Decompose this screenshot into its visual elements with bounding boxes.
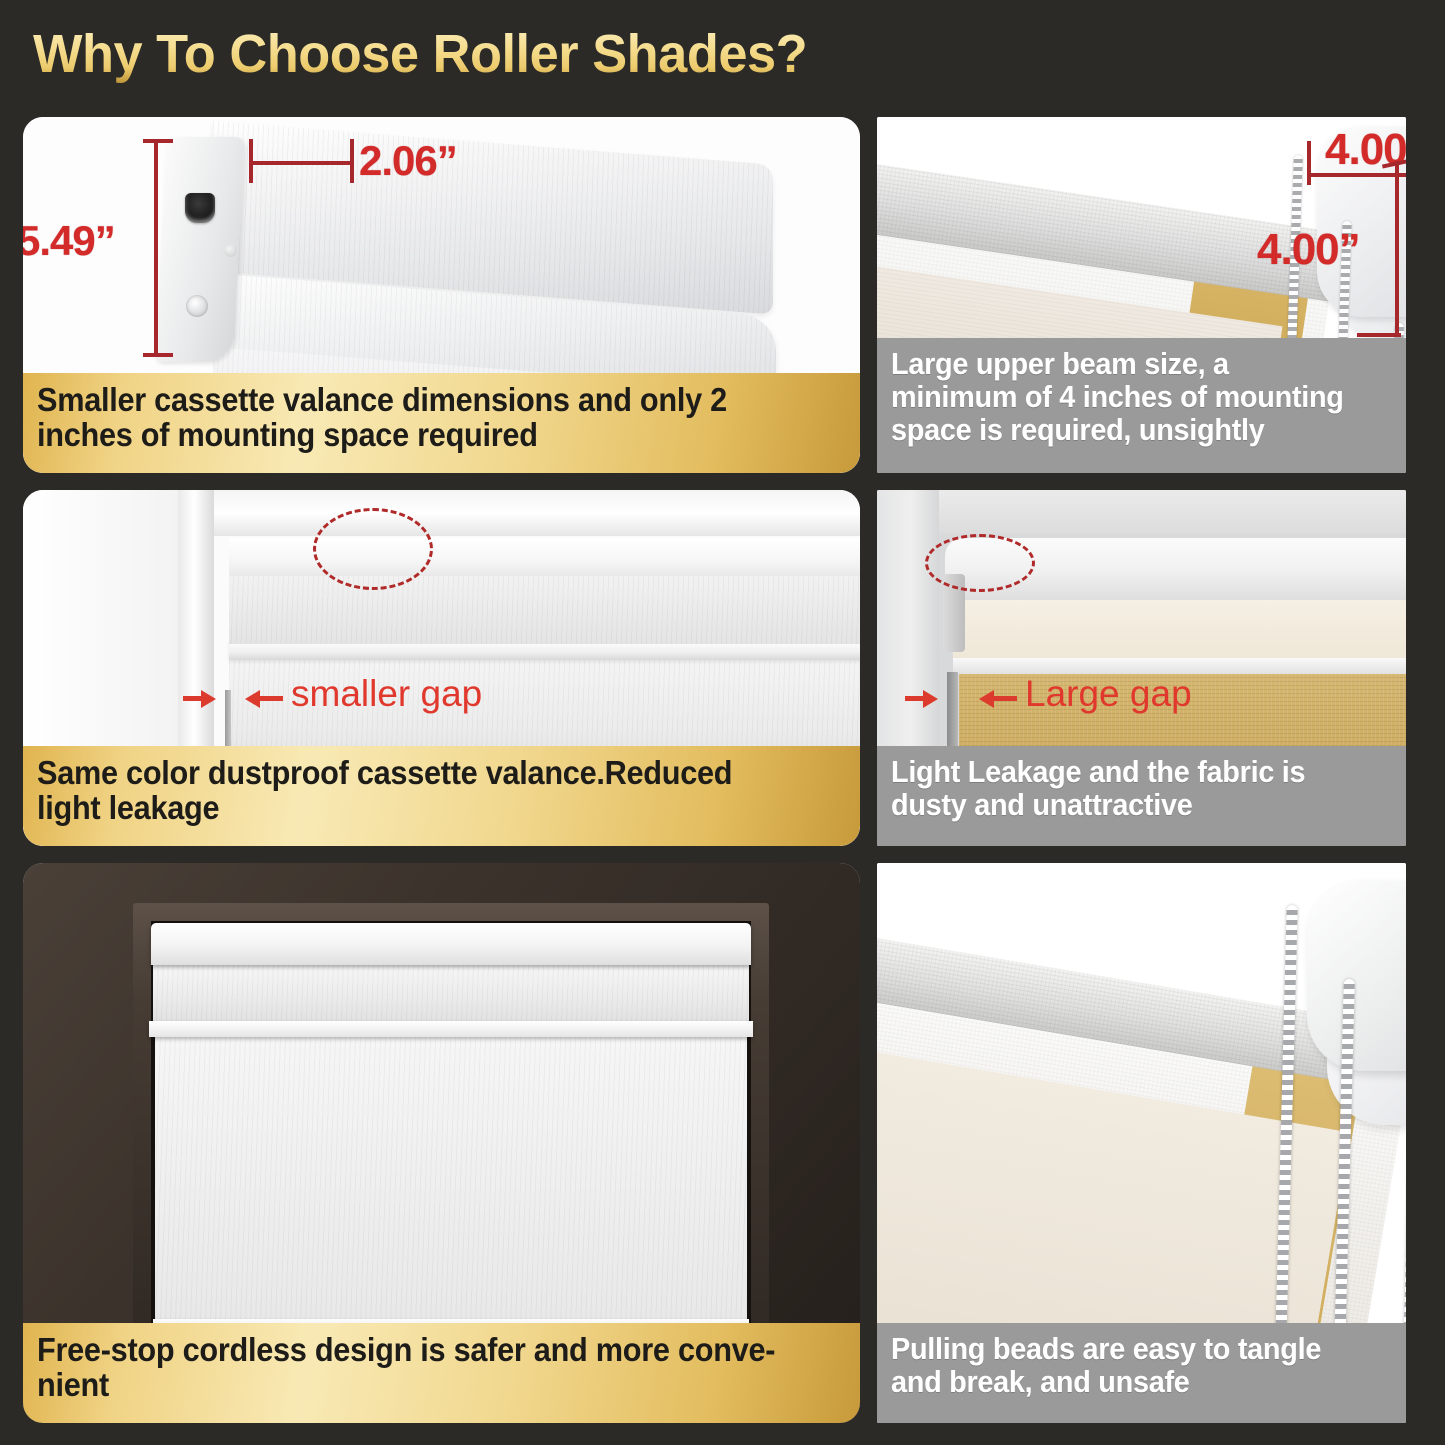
dim-beam-width-label: 4.00” (1325, 125, 1406, 175)
caption-panel-6: Pulling beads are easy to tangle and bre… (877, 1323, 1406, 1423)
gap-highlight-circle (925, 534, 1035, 592)
gap-arrow-left (979, 690, 994, 708)
panel-light-leakage: Large gap Light Leakage and the fabric i… (877, 490, 1406, 846)
dim-height-tick-top (143, 139, 173, 143)
dim-width-label: 2.06” (359, 137, 457, 185)
comparison-grid: 2.06” 5.49” Smaller cassette valance dim… (0, 0, 1445, 1445)
dim-height-line (154, 139, 158, 357)
caption-panel-1: Smaller cassette valance dimensions and … (23, 373, 860, 473)
caption-line: Light Leakage and the fabric is (891, 756, 1357, 789)
caption-line: light leakage (37, 791, 789, 826)
caption-panel-5: Free-stop cordless design is safer and m… (23, 1323, 860, 1423)
caption-line: and break, and unsafe (891, 1366, 1357, 1399)
dim-height-label: 5.49” (23, 217, 115, 265)
caption-panel-2: Large upper beam size, a minimum of 4 in… (877, 338, 1406, 473)
dim-height-tick-bottom (143, 353, 173, 357)
gap-highlight-circle (313, 508, 433, 590)
caption-line: inches of mounting space required (37, 418, 789, 453)
dim-beam-height-label: 4.00” (1257, 225, 1360, 275)
gap-arrow-left (245, 690, 260, 708)
caption-line: space is required, unsightly (891, 414, 1357, 447)
panel-smaller-cassette: 2.06” 5.49” Smaller cassette valance dim… (23, 117, 860, 473)
dim-width-tick-right (350, 139, 354, 183)
caption-line: Pulling beads are easy to tangle (891, 1333, 1357, 1366)
caption-line: Large upper beam size, a (891, 348, 1357, 381)
caption-line: Same color dustproof cassette valance.Re… (37, 756, 789, 791)
caption-panel-4: Light Leakage and the fabric is dusty an… (877, 746, 1406, 846)
panel-cordless-design: Free-stop cordless design is safer and m… (23, 863, 860, 1423)
caption-line: nient (37, 1368, 789, 1403)
panel-large-upper-beam: 4.00” 4.00” Large upper beam size, a min… (877, 117, 1406, 473)
caption-panel-3: Same color dustproof cassette valance.Re… (23, 746, 860, 846)
caption-line: minimum of 4 inches of mounting (891, 381, 1357, 414)
gap-label-large: Large gap (1025, 673, 1192, 715)
gap-label-smaller: smaller gap (291, 673, 482, 715)
dim-width-line (249, 161, 353, 165)
caption-line: Smaller cassette valance dimensions and … (37, 383, 789, 418)
panel-pulling-beads: Pulling beads are easy to tangle and bre… (877, 863, 1406, 1423)
caption-line: Free-stop cordless design is safer and m… (37, 1333, 789, 1368)
panel-dustproof-cassette: smaller gap Same color dustproof cassett… (23, 490, 860, 846)
caption-line: dusty and unattractive (891, 789, 1357, 822)
